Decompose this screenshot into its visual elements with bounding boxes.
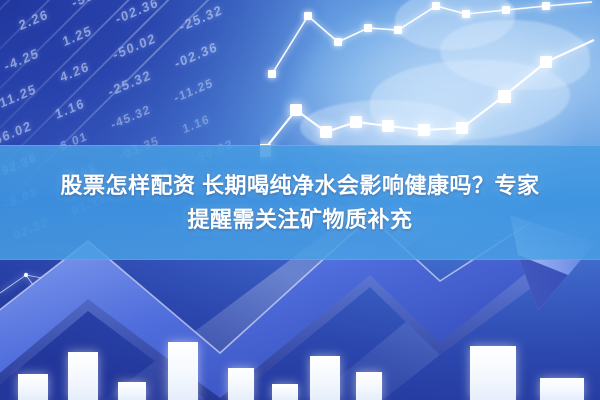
headline-text-group: 股票怎样配资 长期喝纯净水会影响健康吗？专家 提醒需关注矿物质补充 (0, 146, 600, 259)
bar-item (310, 356, 340, 400)
bar-item (356, 372, 382, 400)
headline-band: 股票怎样配资 长期喝纯净水会影响健康吗？专家 提醒需关注矿物质补充 (0, 145, 600, 260)
headline-line-1: 股票怎样配资 长期喝纯净水会影响健康吗？专家 (60, 171, 539, 201)
bar-item (470, 346, 516, 400)
ticker-value: -45.32 (109, 102, 152, 132)
bar-item (540, 378, 584, 400)
bar-item (18, 374, 48, 400)
ticker-value: -02.36 (173, 39, 219, 72)
headline-line-2: 提醒需关注矿物质补充 (187, 205, 412, 235)
ticker-value: 1.16 (54, 95, 87, 122)
ticker-value: 1.25 (61, 22, 94, 49)
ticker-value: -25.32 (107, 67, 153, 100)
lower-glowing-line (260, 40, 594, 157)
bar-item (68, 352, 98, 400)
bar-item (118, 382, 146, 400)
ticker-value: -4.25 (3, 45, 41, 74)
ticker-value: -50.02 (70, 0, 116, 11)
bar-item (272, 384, 298, 400)
ticker-value: -11.25 (173, 75, 215, 105)
bar-item (168, 342, 198, 400)
banner-image: -02.36-50.02-25.32-11.25 -45.02-11.25-02… (0, 0, 600, 400)
ticker-value: 1.16 (181, 111, 211, 136)
bottom-bar-chart (0, 310, 600, 400)
ticker-value: 2.26 (17, 6, 50, 33)
bar-item (228, 368, 254, 400)
